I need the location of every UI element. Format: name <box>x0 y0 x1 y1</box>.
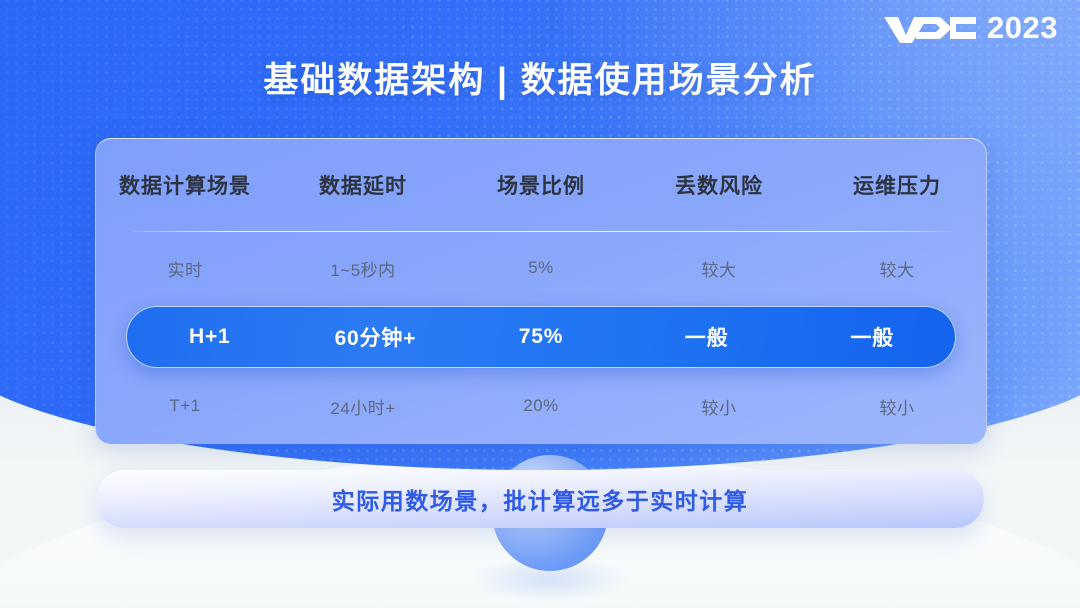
vdc-logo-icon <box>882 13 978 43</box>
table-cell: T+1 <box>96 396 274 416</box>
table-cell: 75% <box>458 325 624 349</box>
page-title: 基础数据架构 | 数据使用场景分析 <box>0 52 1080 103</box>
table-row-highlighted[interactable]: H+1 60分钟+ 75% 一般 一般 <box>126 306 956 368</box>
slide: 2023 基础数据架构 | 数据使用场景分析 数据计算场景 数据延时 场景比例 … <box>0 0 1080 608</box>
table-header-cell: 丢数风险 <box>630 170 808 200</box>
table-header-cell: 数据延时 <box>274 170 452 200</box>
table-header-cell: 数据计算场景 <box>96 170 274 200</box>
table-cell: 1~5秒内 <box>274 256 452 281</box>
table-cell: 一般 <box>789 322 955 352</box>
table-cell: 一般 <box>624 322 790 352</box>
logo-year: 2023 <box>987 12 1058 43</box>
table-row[interactable]: T+1 24小时+ 20% 较小 较小 <box>96 375 986 437</box>
table-cell: 20% <box>452 396 630 416</box>
table-cell: 较大 <box>808 256 986 281</box>
table-cell: 较小 <box>808 394 986 419</box>
table-header-cell: 场景比例 <box>452 170 630 200</box>
table-header-cell: 运维压力 <box>808 170 986 200</box>
comparison-table-card: 数据计算场景 数据延时 场景比例 丢数风险 运维压力 实时 1~5秒内 5% 较… <box>95 138 987 444</box>
brand-logo: 2023 <box>882 12 1058 43</box>
table-header-row: 数据计算场景 数据延时 场景比例 丢数风险 运维压力 <box>96 139 986 231</box>
header-divider <box>132 231 952 232</box>
table-cell: 60分钟+ <box>293 322 459 352</box>
table-body: 实时 1~5秒内 5% 较大 较大 H+1 60分钟+ 75% 一般 一般 T+… <box>96 237 986 444</box>
conclusion-banner: 实际用数场景，批计算远多于实时计算 <box>96 470 984 528</box>
table-row[interactable]: 实时 1~5秒内 5% 较大 较大 <box>96 237 986 299</box>
table-cell: 较小 <box>630 394 808 419</box>
table-cell: H+1 <box>127 325 293 349</box>
table-cell: 5% <box>452 258 630 278</box>
conclusion-banner-text: 实际用数场景，批计算远多于实时计算 <box>332 482 749 516</box>
table-cell: 较大 <box>630 256 808 281</box>
table-cell: 24小时+ <box>274 394 452 419</box>
table-cell: 实时 <box>96 256 274 281</box>
